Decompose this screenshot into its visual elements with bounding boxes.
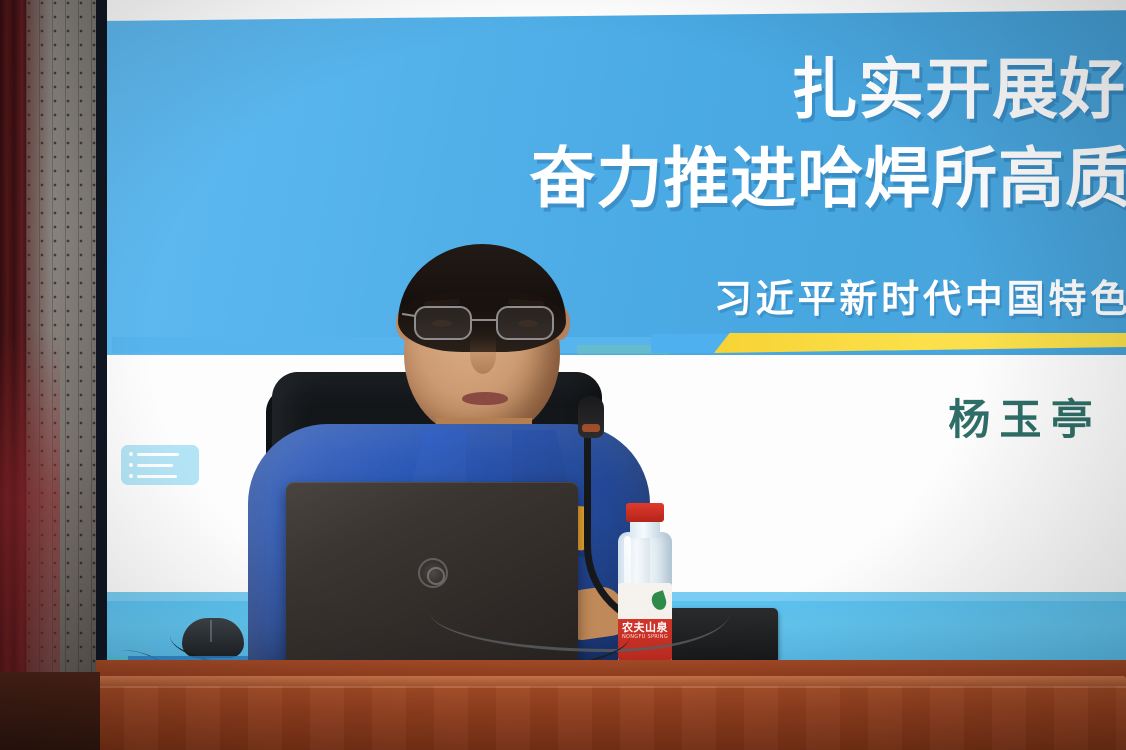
bullet-line xyxy=(137,475,177,478)
eyeglass-bridge xyxy=(472,319,496,321)
bullet-row xyxy=(129,463,191,467)
slide-speaker-name: 杨玉亭 xyxy=(948,386,1102,447)
desk-wood-grain xyxy=(96,686,1126,750)
water-bottle-cap xyxy=(626,503,664,522)
bullet-dot-icon xyxy=(129,452,133,456)
person-mouth xyxy=(462,392,508,405)
laptop-brand-logo-icon xyxy=(418,558,448,588)
slide-headline-line1: 扎实开展好 xyxy=(372,56,1126,123)
slide-headline-line2: 奋力推进哈焊所高质 xyxy=(372,145,1126,212)
eyeglasses-icon xyxy=(414,306,554,340)
bullet-line xyxy=(137,464,173,467)
bullet-row xyxy=(129,452,191,456)
slide-headline: 扎实开展好 奋力推进哈焊所高质 xyxy=(372,56,1126,213)
bullet-line xyxy=(137,453,179,456)
bullet-dot-icon xyxy=(129,474,133,478)
person-nose xyxy=(470,336,496,374)
bullet-row xyxy=(129,474,191,478)
microphone-head xyxy=(578,396,604,438)
eyeglass-lens-right xyxy=(496,306,554,340)
presentation-photo-scene: 扎实开展好 奋力推进哈焊所高质 习近平新时代中国特色 杨玉亭 xyxy=(0,0,1126,750)
eyeglass-lens-left xyxy=(414,306,472,340)
slide-bullet-card xyxy=(121,445,199,485)
desk-left-shadow xyxy=(0,672,100,750)
bullet-dot-icon xyxy=(129,463,133,467)
